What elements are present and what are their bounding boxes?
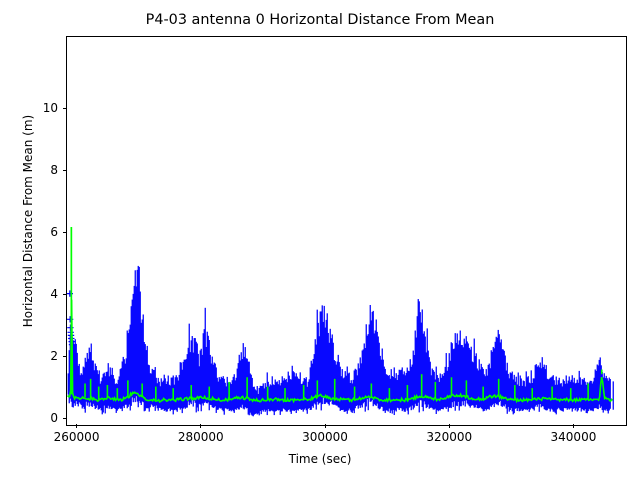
x-axis-label: Time (sec): [0, 452, 640, 466]
page-title: P4-03 antenna 0 Horizontal Distance From…: [0, 12, 640, 28]
blue-data-column: [610, 379, 611, 409]
series-horizontal-distance-blue: [67, 37, 614, 416]
blue-data-column: [613, 381, 614, 409]
plot-area: [66, 36, 627, 426]
x-tick-label: 320000: [389, 430, 509, 444]
y-axis-label: Horizontal Distance From Mean (m): [21, 21, 35, 421]
figure-canvas: P4-03 antenna 0 Horizontal Distance From…: [0, 0, 640, 480]
x-tick-label: 300000: [265, 430, 385, 444]
x-tick-label: 260000: [17, 430, 137, 444]
x-tick-label: 280000: [141, 430, 261, 444]
x-tick-label: 340000: [513, 430, 633, 444]
plot-svg: [67, 37, 626, 425]
